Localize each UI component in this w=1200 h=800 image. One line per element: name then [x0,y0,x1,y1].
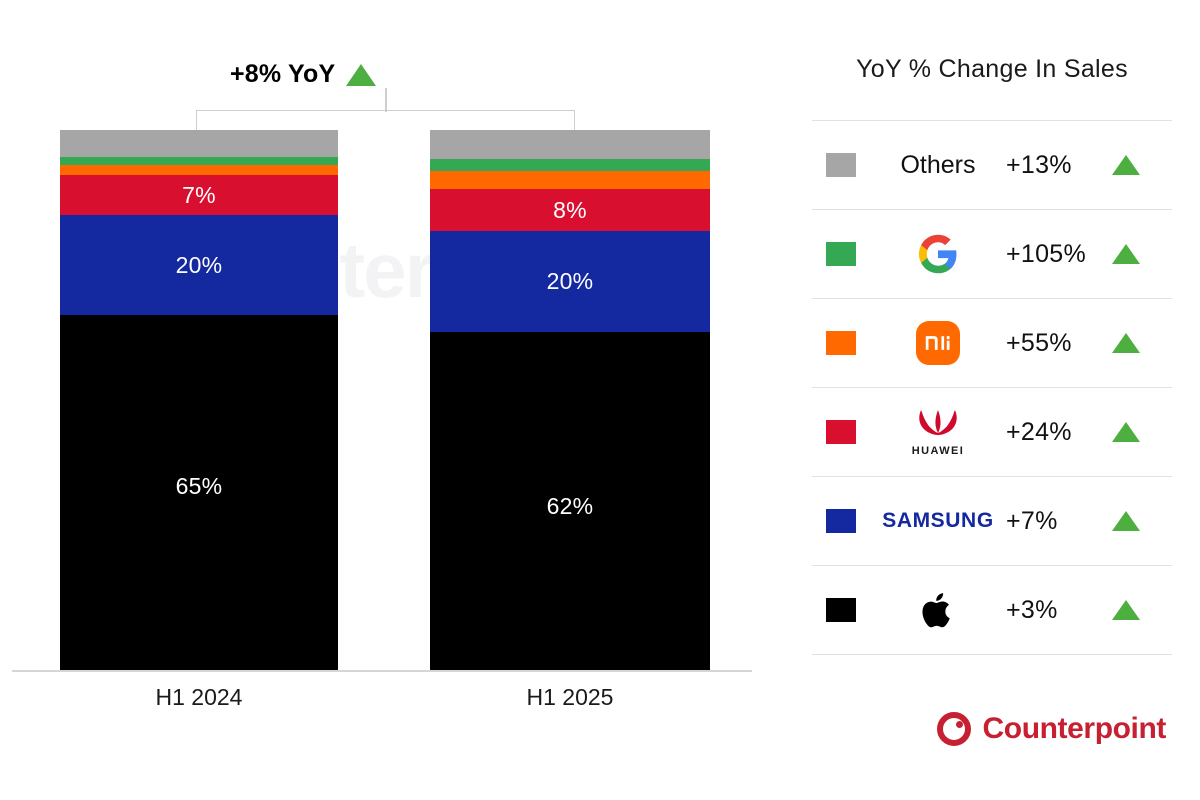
segment-huawei-2024[interactable]: 7% [60,175,338,215]
swatch-xiaomi [826,331,856,355]
value-others: +13% [1006,151,1098,180]
category-label-h1-2025: H1 2025 [430,684,710,711]
segment-label-apple-2025: 62% [547,495,594,518]
bracket-stem [385,88,387,112]
bar-h1-2024[interactable]: 7% 20% 65% [60,130,338,670]
counterpoint-wordmark: Counterpoint [983,712,1167,746]
google-logo-icon [917,233,959,275]
yoy-growth-label: +8% YoY [230,60,335,89]
counterpoint-mark-icon [937,712,971,746]
arrow-cell-samsung [1098,511,1154,531]
swatch-samsung [826,509,856,533]
value-xiaomi: +55% [1006,329,1098,358]
arrow-cell-huawei [1098,422,1154,442]
huawei-wordmark: HUAWEI [912,445,964,457]
segment-apple-2025[interactable]: 62% [430,332,710,670]
swatch-apple [826,598,856,622]
legend-row-others[interactable]: Others +13% [812,120,1172,209]
axis-baseline [12,670,752,672]
segment-samsung-2024[interactable]: 20% [60,215,338,315]
brand-label-others: Others [900,151,975,180]
brand-cell-samsung: SAMSUNG [870,509,1006,533]
segment-label-huawei-2024: 7% [182,184,216,207]
triangle-up-icon [1112,333,1140,353]
huawei-logo-icon: HUAWEI [909,407,967,457]
xiaomi-logo-icon [916,321,960,365]
triangle-up-icon [1112,244,1140,264]
comparison-bracket [196,110,575,132]
triangle-up-icon [1112,600,1140,620]
segment-xiaomi-2025[interactable] [430,171,710,189]
yoy-change-legend: YoY % Change In Sales Others +13% +105% [812,55,1172,655]
arrow-cell-apple [1098,600,1154,620]
swatch-others [826,153,856,177]
segment-label-huawei-2025: 8% [553,199,587,222]
legend-row-huawei[interactable]: HUAWEI +24% [812,387,1172,476]
segment-samsung-2025[interactable]: 20% [430,231,710,332]
value-apple: +3% [1006,596,1098,625]
segment-huawei-2025[interactable]: 8% [430,189,710,231]
brand-cell-huawei: HUAWEI [870,407,1006,457]
value-huawei: +24% [1006,418,1098,447]
brand-cell-xiaomi [870,321,1006,365]
segment-xiaomi-2024[interactable] [60,165,338,175]
value-samsung: +7% [1006,507,1098,536]
segment-label-samsung-2025: 20% [547,270,594,293]
apple-logo-icon [921,589,955,631]
swatch-huawei [826,420,856,444]
bar-h1-2025[interactable]: 8% 20% 62% [430,130,710,670]
legend-row-google[interactable]: +105% [812,209,1172,298]
brand-cell-google [870,233,1006,275]
arrow-cell-xiaomi [1098,333,1154,353]
stacked-bar-chart: +8% YoY 7% 20% 65% [0,0,790,800]
legend-title: YoY % Change In Sales [812,55,1172,120]
segment-apple-2024[interactable]: 65% [60,315,338,670]
samsung-logo-icon: SAMSUNG [882,509,994,533]
legend-row-samsung[interactable]: SAMSUNG +7% [812,476,1172,565]
swatch-google [826,242,856,266]
value-google: +105% [1006,240,1098,269]
legend-row-apple[interactable]: +3% [812,565,1172,655]
arrow-cell-others [1098,155,1154,175]
triangle-up-icon [1112,422,1140,442]
segment-label-apple-2024: 65% [176,475,223,498]
segment-google-2024[interactable] [60,157,338,165]
segment-others-2024[interactable] [60,130,338,157]
triangle-up-icon [346,64,376,86]
triangle-up-icon [1112,511,1140,531]
arrow-cell-google [1098,244,1154,264]
segment-others-2025[interactable] [430,130,710,159]
category-label-h1-2024: H1 2024 [59,684,339,711]
segment-google-2025[interactable] [430,159,710,171]
brand-cell-apple [870,589,1006,631]
triangle-up-icon [1112,155,1140,175]
brand-cell-others: Others [870,151,1006,180]
segment-label-samsung-2024: 20% [176,254,223,277]
yoy-growth-annotation: +8% YoY [230,60,376,89]
legend-row-xiaomi[interactable]: +55% [812,298,1172,387]
counterpoint-logo: Counterpoint [937,712,1167,746]
